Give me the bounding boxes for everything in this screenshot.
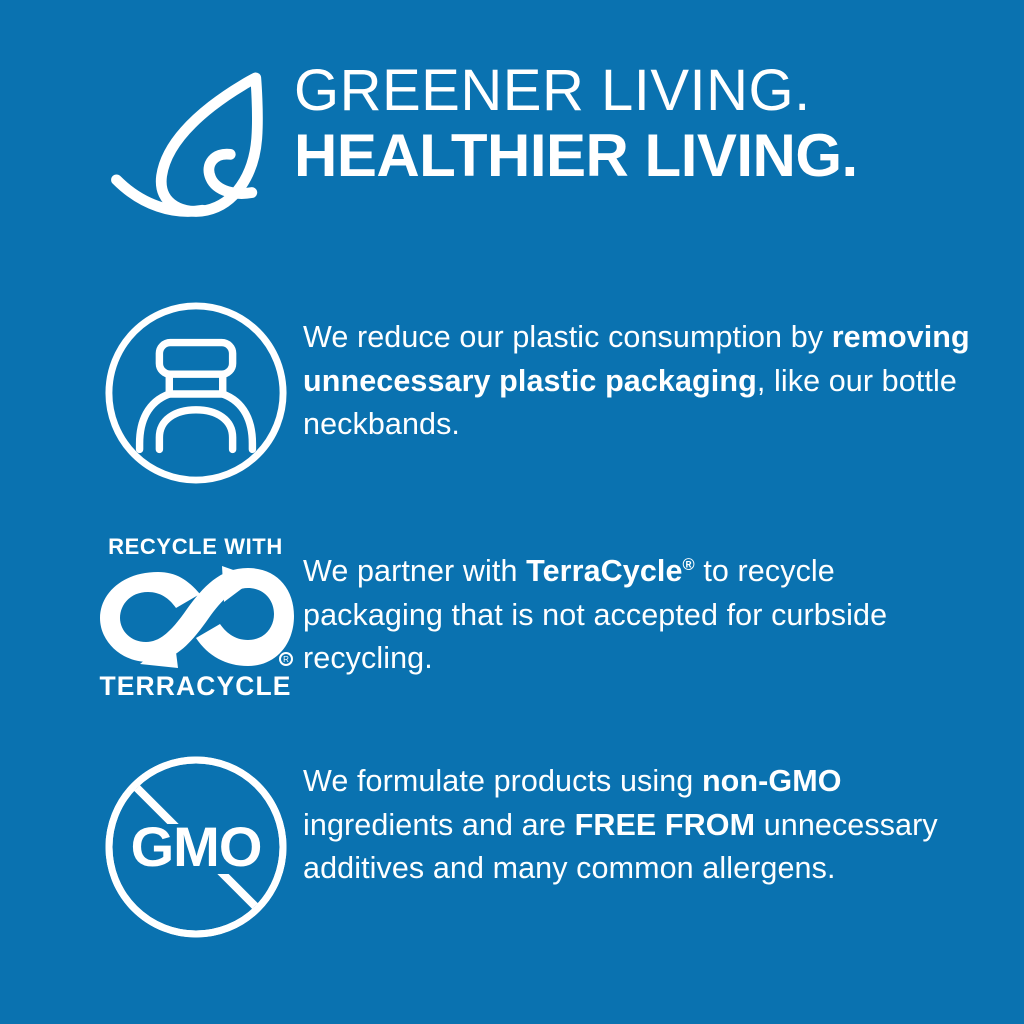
- header: GREENER LIVING. HEALTHIER LIVING.: [0, 62, 1024, 232]
- text-cell: We partner with TerraCycle® to recycle p…: [303, 504, 1024, 681]
- gmo-label: GMO: [130, 815, 261, 878]
- headline-line-1: GREENER LIVING.: [294, 58, 858, 124]
- benefit-row-non-gmo: GMO We formulate products using non-GMO …: [0, 732, 1024, 962]
- terracycle-logo: RECYCLE WITH R TERRACYCLE: [92, 536, 300, 700]
- no-gmo-icon: GMO: [101, 752, 291, 942]
- infinity-recycle-loop-icon: R: [96, 564, 296, 668]
- poster-canvas: GREENER LIVING. HEALTHIER LIVING.: [0, 0, 1024, 1024]
- terracycle-top-label: RECYCLE WITH: [108, 536, 283, 558]
- text-cell: We reduce our plastic consumption by rem…: [303, 282, 1024, 447]
- icon-cell: [88, 282, 303, 504]
- icon-cell: GMO: [88, 732, 303, 962]
- benefit-rows: We reduce our plastic consumption by rem…: [0, 282, 1024, 962]
- benefit-text-terracycle: We partner with TerraCycle® to recycle p…: [303, 550, 970, 681]
- text-cell: We formulate products using non-GMO ingr…: [303, 732, 1024, 891]
- benefit-text-plastic-reduction: We reduce our plastic consumption by rem…: [303, 316, 970, 447]
- bottle-neckband-icon: [102, 299, 290, 487]
- headline: GREENER LIVING. HEALTHIER LIVING.: [294, 58, 858, 188]
- benefit-row-plastic-reduction: We reduce our plastic consumption by rem…: [0, 282, 1024, 504]
- benefit-row-terracycle: RECYCLE WITH R TERRACYCLE: [0, 504, 1024, 732]
- headline-line-2: HEALTHIER LIVING.: [294, 124, 858, 188]
- terracycle-bottom-label: TERRACYCLE: [99, 673, 291, 700]
- svg-text:R: R: [283, 655, 289, 664]
- leaf-icon: [108, 70, 276, 222]
- benefit-text-non-gmo: We formulate products using non-GMO ingr…: [303, 760, 970, 891]
- icon-cell: RECYCLE WITH R TERRACYCLE: [88, 504, 303, 732]
